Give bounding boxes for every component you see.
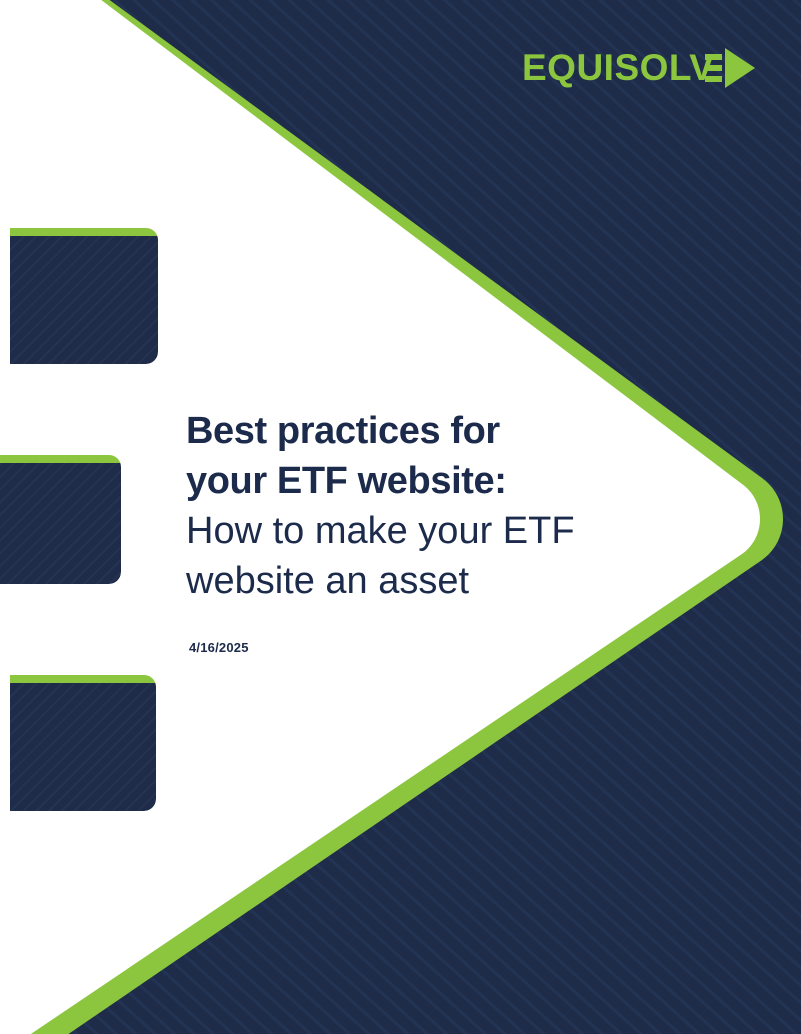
decorative-square-2 bbox=[0, 455, 121, 584]
equisolve-logo: EQUISOLV bbox=[522, 40, 762, 96]
decorative-square-1 bbox=[10, 228, 158, 364]
document-cover-page: EQUISOLV Best practices for your ETF web… bbox=[0, 0, 801, 1034]
title-line-4: website an asset bbox=[186, 556, 706, 606]
logo-mark: EQUISOLV bbox=[522, 40, 762, 96]
title-line-3: How to make your ETF bbox=[186, 506, 706, 556]
title-line-2: your ETF website: bbox=[186, 456, 706, 506]
document-date: 4/16/2025 bbox=[189, 640, 249, 655]
square-navy-body bbox=[10, 236, 158, 364]
square-navy-body bbox=[10, 683, 156, 811]
logo-arrow-e-icon bbox=[705, 48, 755, 88]
decorative-square-3 bbox=[10, 675, 156, 811]
title-line-1: Best practices for bbox=[186, 406, 706, 456]
logo-wordmark: EQUISOLV bbox=[522, 47, 714, 88]
page-title: Best practices for your ETF website: How… bbox=[186, 406, 706, 606]
square-navy-body bbox=[0, 463, 121, 584]
